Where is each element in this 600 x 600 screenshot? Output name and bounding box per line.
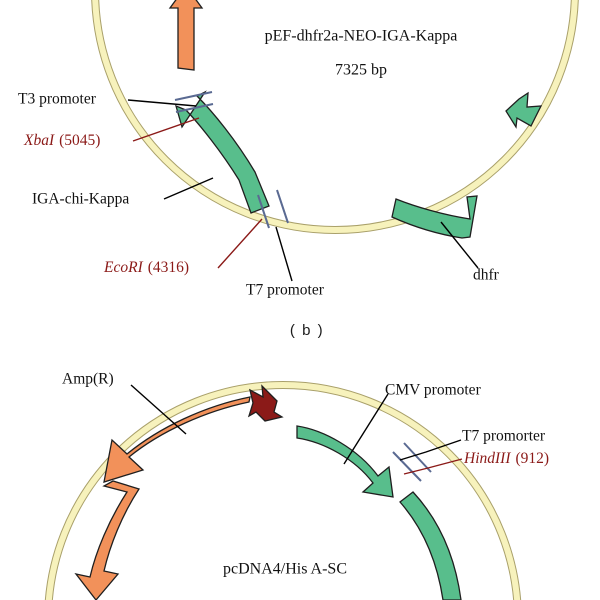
panel-c-plasmid-name: pcDNA4/His A-SC: [223, 561, 347, 578]
label-hindiii-name-c: HindIII: [463, 450, 511, 467]
figure-canvas: pEF-dhfr2a-NEO-IGA-Kappa 7325 bp T3 prom…: [0, 0, 600, 600]
label-dhfr: dhfr: [473, 267, 500, 284]
label-hindiii-c: HindIII(912): [463, 450, 549, 467]
plasmid-figure: pEF-dhfr2a-NEO-IGA-Kappa 7325 bp T3 prom…: [0, 0, 600, 600]
panel-b-plasmid-size: 7325 bp: [335, 62, 387, 79]
panel-caption-b: ( b ): [290, 322, 324, 339]
label-cmv-promoter: CMV promoter: [385, 382, 482, 399]
label-t3-promoter-b: T3 promoter: [18, 91, 97, 108]
label-amp-r: Amp(R): [62, 371, 114, 388]
panel-b-plasmid-name: pEF-dhfr2a-NEO-IGA-Kappa: [265, 28, 458, 45]
label-t7-promoter-b: T7 promoter: [246, 282, 325, 299]
label-xbai-b: XbaI(5045): [23, 132, 100, 149]
label-xbai-pos-b: (5045): [59, 132, 100, 149]
label-hindiii-pos-c: (912): [516, 450, 550, 467]
label-xbai-name-b: XbaI: [23, 132, 55, 149]
label-ecori-pos-b: (4316): [148, 259, 189, 276]
label-iga-chi-kappa: IGA-chi-Kappa: [32, 191, 129, 208]
label-t7-promorter-c: T7 promorter: [462, 428, 546, 445]
label-ecori-name-b: EcoRI: [103, 259, 144, 276]
